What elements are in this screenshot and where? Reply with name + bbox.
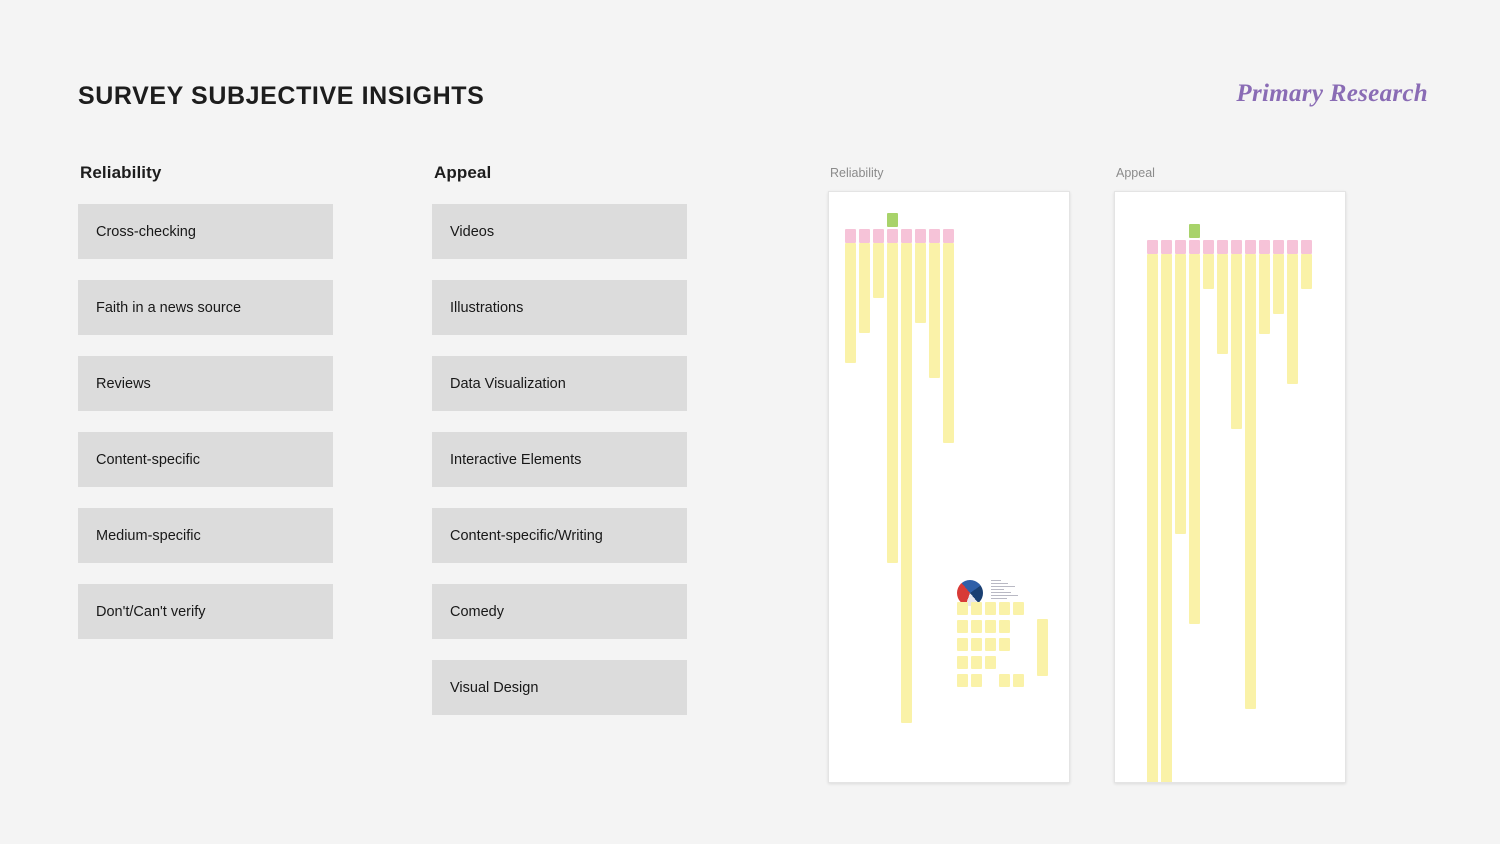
sticky-note-header — [845, 229, 856, 243]
sticky-note-header — [873, 229, 884, 243]
sticky-note-tile — [971, 620, 982, 633]
sticky-note-tile — [999, 602, 1010, 615]
list-item[interactable]: Don't/Can't verify — [78, 584, 333, 639]
list-item[interactable]: Medium-specific — [78, 508, 333, 563]
list-item-label: Faith in a news source — [96, 300, 241, 316]
sticky-note-column — [1161, 254, 1172, 783]
list-item-label: Don't/Can't verify — [96, 604, 206, 620]
chart-caption-line — [991, 586, 1015, 587]
sticky-note-header — [1259, 240, 1270, 254]
list-item[interactable]: Interactive Elements — [432, 432, 687, 487]
sticky-note-accent — [887, 213, 898, 227]
sticky-note-column — [1175, 254, 1186, 534]
chart-caption-line — [991, 580, 1001, 581]
sticky-note-tile — [999, 674, 1010, 687]
chart-caption-line — [991, 595, 1018, 596]
sticky-note-tile — [985, 638, 996, 651]
sticky-note-header — [901, 229, 912, 243]
list-item-label: Cross-checking — [96, 224, 196, 240]
page-title: SURVEY SUBJECTIVE INSIGHTS — [78, 82, 484, 111]
sticky-note-header — [1301, 240, 1312, 254]
sticky-note-column — [859, 243, 870, 333]
sticky-note-header — [1287, 240, 1298, 254]
category-column-reliability: Reliability Cross-checking Faith in a ne… — [78, 163, 333, 660]
list-item[interactable]: Reviews — [78, 356, 333, 411]
sticky-note-header — [1189, 240, 1200, 254]
sticky-note-header — [1203, 240, 1214, 254]
sticky-note-tile — [971, 602, 982, 615]
chart-caption-line — [991, 583, 1008, 584]
chart-caption-lines — [991, 580, 1019, 601]
sticky-note-column — [1203, 254, 1214, 289]
preview-appeal: Appeal — [1114, 166, 1346, 783]
list-item-label: Comedy — [450, 604, 504, 620]
sticky-note-header — [1245, 240, 1256, 254]
sticky-note-column — [845, 243, 856, 363]
sticky-note-column — [1037, 619, 1048, 676]
sticky-note-header — [943, 229, 954, 243]
list-item-label: Illustrations — [450, 300, 523, 316]
list-item[interactable]: Videos — [432, 204, 687, 259]
list-item[interactable]: Illustrations — [432, 280, 687, 335]
sticky-note-tile — [957, 656, 968, 669]
sticky-note-tile — [957, 638, 968, 651]
sticky-note-column — [873, 243, 884, 298]
sticky-note-tile — [1013, 674, 1024, 687]
sticky-note-column — [1287, 254, 1298, 384]
preview-reliability: Reliability — [828, 166, 1070, 783]
list-item-label: Data Visualization — [450, 376, 566, 392]
affinity-board-reliability[interactable] — [828, 191, 1070, 783]
list-item-label: Interactive Elements — [450, 452, 581, 468]
chart-caption-line — [991, 598, 1007, 599]
list-item-label: Content-specific — [96, 452, 200, 468]
chart-caption-line — [991, 592, 1011, 593]
sticky-note-column — [1189, 254, 1200, 624]
sticky-note-tile — [985, 656, 996, 669]
list-item[interactable]: Content-specific — [78, 432, 333, 487]
sticky-note-column — [1231, 254, 1242, 429]
sticky-note-header — [1231, 240, 1242, 254]
list-item[interactable]: Visual Design — [432, 660, 687, 715]
sticky-note-header — [929, 229, 940, 243]
sticky-note-header — [1175, 240, 1186, 254]
sticky-note-column — [915, 243, 926, 323]
sticky-note-tile — [971, 674, 982, 687]
preview-label-appeal: Appeal — [1116, 166, 1346, 180]
list-item[interactable]: Cross-checking — [78, 204, 333, 259]
sticky-note-column — [1147, 254, 1158, 783]
sticky-note-accent — [1189, 224, 1200, 238]
list-item[interactable]: Data Visualization — [432, 356, 687, 411]
list-item-label: Medium-specific — [96, 528, 201, 544]
sticky-note-column — [943, 243, 954, 443]
preview-label-reliability: Reliability — [830, 166, 1070, 180]
sticky-note-column — [1301, 254, 1312, 289]
sticky-note-tile — [957, 620, 968, 633]
list-item[interactable]: Faith in a news source — [78, 280, 333, 335]
sticky-note-header — [887, 229, 898, 243]
list-item-label: Reviews — [96, 376, 151, 392]
sticky-note-column — [929, 243, 940, 378]
sticky-note-column — [1217, 254, 1228, 354]
sticky-note-tile — [999, 638, 1010, 651]
sticky-note-header — [859, 229, 870, 243]
list-item-label: Content-specific/Writing — [450, 528, 603, 544]
sticky-note-tile — [957, 674, 968, 687]
slide-root: { "header": { "title": "SURVEY SUBJECTIV… — [0, 0, 1500, 844]
sticky-note-tile — [971, 656, 982, 669]
sticky-note-tile — [957, 602, 968, 615]
list-item[interactable]: Content-specific/Writing — [432, 508, 687, 563]
list-item[interactable]: Comedy — [432, 584, 687, 639]
list-item-label: Videos — [450, 224, 494, 240]
sticky-note-header — [1147, 240, 1158, 254]
sticky-note-header — [1217, 240, 1228, 254]
brand-logo: Primary Research — [1236, 80, 1428, 108]
chart-caption-line — [991, 589, 1004, 590]
sticky-note-column — [1245, 254, 1256, 709]
sticky-note-header — [915, 229, 926, 243]
sticky-note-column — [901, 243, 912, 723]
sticky-note-header — [1161, 240, 1172, 254]
sticky-note-tile — [971, 638, 982, 651]
affinity-board-appeal[interactable] — [1114, 191, 1346, 783]
sticky-note-column — [1259, 254, 1270, 334]
sticky-note-column — [887, 243, 898, 563]
sticky-note-tile — [985, 620, 996, 633]
sticky-note-tile — [1013, 602, 1024, 615]
sticky-note-tile — [985, 602, 996, 615]
sticky-note-header — [1273, 240, 1284, 254]
sticky-note-tile — [999, 620, 1010, 633]
list-item-label: Visual Design — [450, 680, 538, 696]
category-column-appeal: Appeal Videos Illustrations Data Visuali… — [432, 163, 687, 736]
column-heading-appeal: Appeal — [434, 163, 687, 183]
column-heading-reliability: Reliability — [80, 163, 333, 183]
sticky-note-column — [1273, 254, 1284, 314]
